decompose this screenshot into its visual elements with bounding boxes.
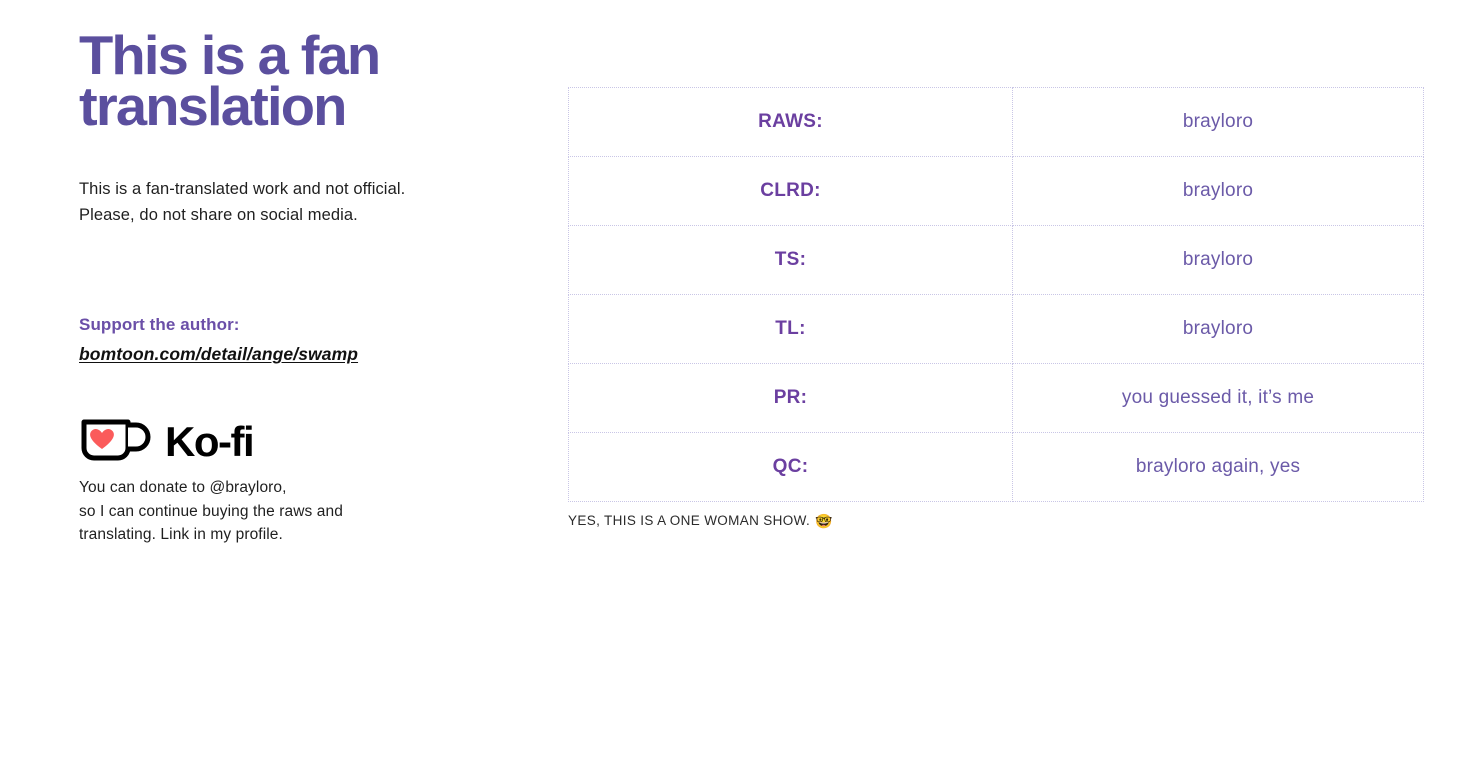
credit-role: TL: bbox=[569, 295, 1013, 364]
kofi-cup-heart-icon bbox=[79, 416, 157, 469]
credits-caption: YES, THIS IS A ONE WOMAN SHOW. 🤓 bbox=[568, 513, 833, 528]
credit-role: QC: bbox=[569, 433, 1013, 502]
credit-role: CLRD: bbox=[569, 157, 1013, 226]
credit-role: TS: bbox=[569, 226, 1013, 295]
credit-person: brayloro bbox=[1013, 88, 1424, 157]
credit-person: you guessed it, it’s me bbox=[1013, 364, 1424, 433]
disclaimer-text: This is a fan-translated work and not of… bbox=[79, 177, 454, 228]
table-row: PR: you guessed it, it’s me bbox=[569, 364, 1424, 433]
credit-person: brayloro bbox=[1013, 295, 1424, 364]
table-row: QC: brayloro again, yes bbox=[569, 433, 1424, 502]
credits-table: RAWS: brayloro CLRD: brayloro TS: braylo… bbox=[568, 87, 1424, 502]
credits-table-body: RAWS: brayloro CLRD: brayloro TS: braylo… bbox=[569, 88, 1424, 502]
table-row: RAWS: brayloro bbox=[569, 88, 1424, 157]
credit-role: RAWS: bbox=[569, 88, 1013, 157]
table-row: TL: brayloro bbox=[569, 295, 1424, 364]
kofi-donate-text: You can donate to @brayloro, so I can co… bbox=[79, 476, 343, 547]
credit-person: brayloro again, yes bbox=[1013, 433, 1424, 502]
intro-panel: This is a fan translation This is a fan-… bbox=[79, 30, 499, 131]
kofi-logo[interactable]: Ko-fi bbox=[79, 418, 343, 466]
credit-role: PR: bbox=[569, 364, 1013, 433]
table-row: TS: brayloro bbox=[569, 226, 1424, 295]
support-author-label: Support the author: bbox=[79, 315, 240, 335]
credits-table-container: RAWS: brayloro CLRD: brayloro TS: braylo… bbox=[568, 87, 1424, 502]
credit-person: brayloro bbox=[1013, 226, 1424, 295]
credit-person: brayloro bbox=[1013, 157, 1424, 226]
kofi-wordmark: Ko-fi bbox=[165, 421, 253, 463]
support-author-link[interactable]: bomtoon.com/detail/ange/swamp bbox=[79, 344, 358, 365]
table-row: CLRD: brayloro bbox=[569, 157, 1424, 226]
credits-caption-text: YES, THIS IS A ONE WOMAN SHOW. bbox=[568, 513, 810, 528]
page-title: This is a fan translation bbox=[79, 30, 507, 131]
nerd-face-emoji-icon: 🤓 bbox=[815, 514, 833, 528]
kofi-panel: Ko-fi You can donate to @brayloro, so I … bbox=[79, 418, 343, 547]
